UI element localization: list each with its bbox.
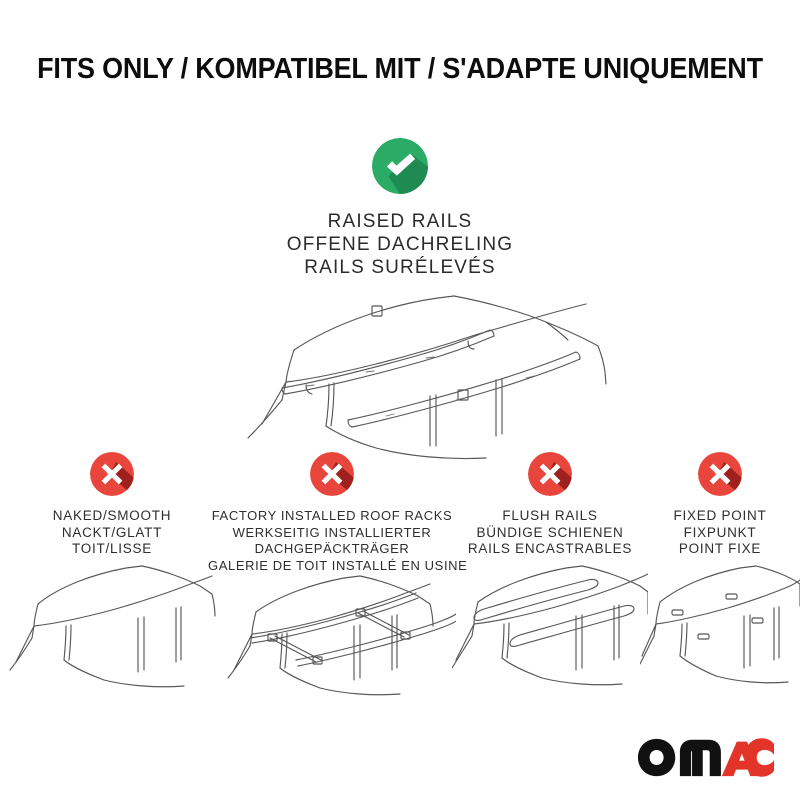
car-roof-naked-smooth-illustration <box>8 552 216 702</box>
check-circle-icon <box>372 138 428 194</box>
label-de-1: WERKSEITIG INSTALLIERTER <box>208 525 456 542</box>
label-de: FIXPUNKT <box>640 525 800 542</box>
incompatible-section: NAKED/SMOOTH NACKT/GLATT TOIT/LISSE <box>0 452 800 702</box>
label-de: NACKT/GLATT <box>8 525 216 542</box>
cross-circle-icon <box>698 452 742 496</box>
incompatible-item-flush-rails: FLUSH RAILS BÜNDIGE SCHIENEN RAILS ENCAS… <box>452 452 648 558</box>
cross-circle-icon <box>528 452 572 496</box>
car-roof-flush-rails-illustration <box>452 552 648 702</box>
compatible-label-fr: RAILS SURÉLEVÉS <box>0 256 800 279</box>
header: FITS ONLY / KOMPATIBEL MIT / S'ADAPTE UN… <box>0 52 800 86</box>
incompatible-labels: NAKED/SMOOTH NACKT/GLATT TOIT/LISSE <box>8 508 216 558</box>
compatible-label-de: OFFENE DACHRELING <box>0 233 800 256</box>
label-en: FIXED POINT <box>640 508 800 525</box>
cross-circle-icon <box>310 452 354 496</box>
omac-logo <box>636 738 776 778</box>
page-title: FITS ONLY / KOMPATIBEL MIT / S'ADAPTE UN… <box>28 52 772 86</box>
label-en: NAKED/SMOOTH <box>8 508 216 525</box>
compatible-section: RAISED RAILS OFFENE DACHRELING RAILS SUR… <box>0 138 800 279</box>
incompatible-labels: FLUSH RAILS BÜNDIGE SCHIENEN RAILS ENCAS… <box>452 508 648 558</box>
label-en: FACTORY INSTALLED ROOF RACKS <box>208 508 456 525</box>
cross-circle-icon <box>90 452 134 496</box>
car-roof-raised-rails-illustration <box>186 286 616 466</box>
car-roof-factory-racks-illustration <box>208 564 456 714</box>
compatible-label-en: RAISED RAILS <box>0 210 800 233</box>
fitment-infographic: FITS ONLY / KOMPATIBEL MIT / S'ADAPTE UN… <box>0 0 800 800</box>
car-roof-fixed-point-illustration <box>640 548 800 698</box>
incompatible-item-naked-smooth: NAKED/SMOOTH NACKT/GLATT TOIT/LISSE <box>8 452 216 558</box>
label-de-2: DACHGEPÄCKTRÄGER <box>208 541 456 558</box>
incompatible-item-fixed-point: FIXED POINT FIXPUNKT POINT FIXE <box>640 452 800 558</box>
compatible-labels: RAISED RAILS OFFENE DACHRELING RAILS SUR… <box>0 210 800 279</box>
label-en: FLUSH RAILS <box>452 508 648 525</box>
label-de: BÜNDIGE SCHIENEN <box>452 525 648 542</box>
incompatible-item-factory-racks: FACTORY INSTALLED ROOF RACKS WERKSEITIG … <box>208 452 456 574</box>
